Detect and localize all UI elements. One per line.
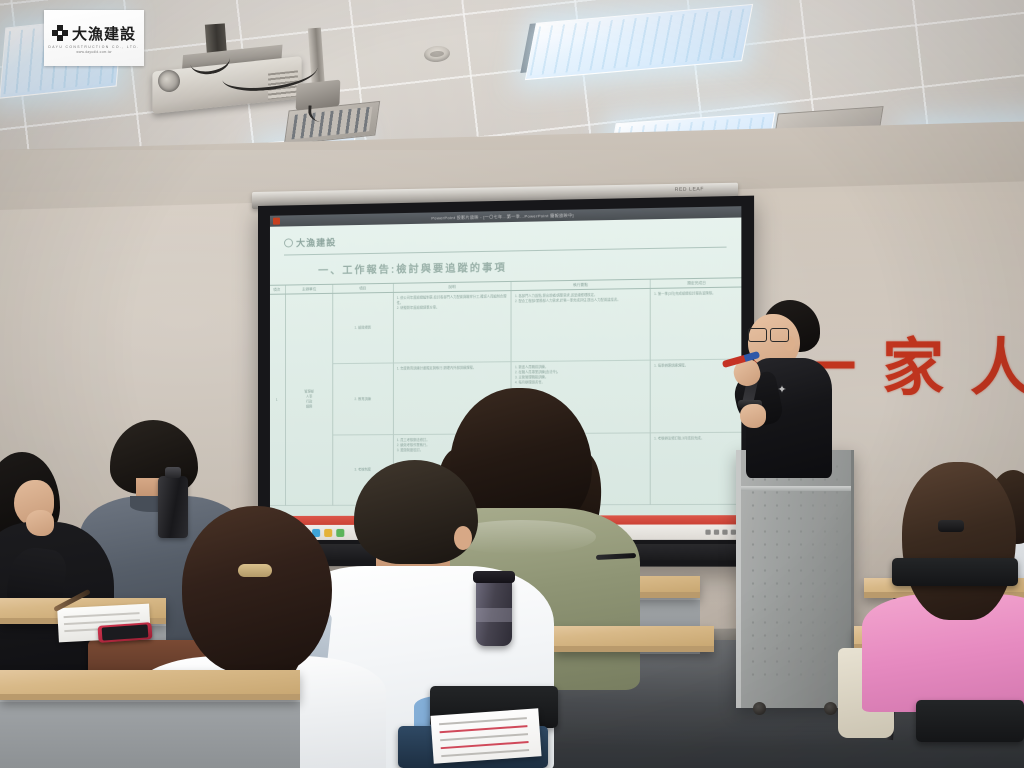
attendee-pink-top [878, 462, 1024, 712]
desk-modesty-panel [0, 700, 300, 768]
printed-handout [430, 708, 541, 763]
phone-screen [102, 624, 149, 640]
table-header-cell: 主辦單位 [286, 285, 332, 294]
wooden-desk [554, 626, 714, 652]
ring-mark-icon [284, 238, 293, 247]
coffee-tumbler [476, 578, 512, 646]
caster-wheel-icon [824, 702, 837, 715]
slide-heading: 一、工作報告:檢討與要追蹤的事項 [318, 255, 726, 277]
table-column-no: 1 [270, 295, 286, 506]
company-name-en: DAYU CONSTRUCTION CO., LTD. [48, 45, 139, 49]
tumbler-lid [473, 571, 515, 583]
network-icon[interactable] [705, 530, 710, 535]
attendee-ear [454, 526, 472, 550]
slide-brand-text: 大漁建設 [296, 236, 336, 250]
slide-brand: 大漁建設 [284, 228, 727, 249]
table-cell: 1. 各部門人力盤點,提出增補/調整需求,送呈總經理核定。 2. 配合工程部/業… [512, 289, 650, 363]
ceiling-projector [130, 22, 370, 132]
company-sign: 大漁建設 DAYU CONSTRUCTION CO., LTD. www.day… [44, 10, 144, 66]
table-header-cell: 項次 [270, 286, 286, 294]
table-header-cell: 項目 [333, 284, 394, 293]
lectern-panel [736, 450, 854, 708]
table-cell: 1. 依公司年度組織編制表,檢討各部門人力配置與職掌分工,確認人員編制合理性。 … [394, 291, 511, 364]
window-title-text: PowerPoint 投影片放映 - [一〇七年...第一季...PowerPo… [431, 212, 574, 221]
classroom-presentation-photo: 為 一 家 人 RED LEAF PowerPoint 投影片放映 - [一〇七… [0, 0, 1024, 768]
system-tray[interactable] [705, 530, 736, 535]
ime-icon[interactable] [722, 530, 727, 535]
office-chair [892, 558, 1018, 586]
attendee-hair [902, 462, 1016, 620]
hair-tie-icon [238, 564, 272, 577]
table-cell: 1 [270, 295, 285, 506]
powerpoint-icon [273, 218, 280, 225]
screen-brand-label: RED LEAF [675, 186, 704, 193]
tumbler-band [476, 608, 512, 622]
lectern-rail [741, 486, 851, 491]
company-sign-row: 大漁建設 [52, 23, 136, 44]
calligraphy-char: 家 [882, 318, 946, 406]
attendee-hand [26, 510, 54, 536]
eyeglasses-icon [748, 328, 792, 340]
attendee-hair [182, 506, 332, 674]
company-url: www.dayudld.com.tw [76, 50, 111, 54]
calligraphy-char: 人 [970, 318, 1024, 406]
speaker: ✦ [726, 300, 852, 476]
table-cell: 1. 組織規劃 [333, 293, 393, 365]
speaker-hand [740, 404, 766, 428]
projector-cable [307, 105, 328, 122]
office-chair [916, 700, 1024, 742]
table-header-cell: 預定完成日 [651, 278, 741, 288]
company-name-zh: 大漁建設 [72, 23, 136, 44]
table-cell: 2. 教育訓練 [333, 364, 393, 435]
wooden-desk [0, 670, 300, 700]
cross-mark-logo-icon [52, 25, 68, 41]
volume-icon[interactable] [714, 530, 719, 535]
hair-clip-icon [938, 520, 964, 532]
caster-wheel-icon [753, 702, 766, 715]
